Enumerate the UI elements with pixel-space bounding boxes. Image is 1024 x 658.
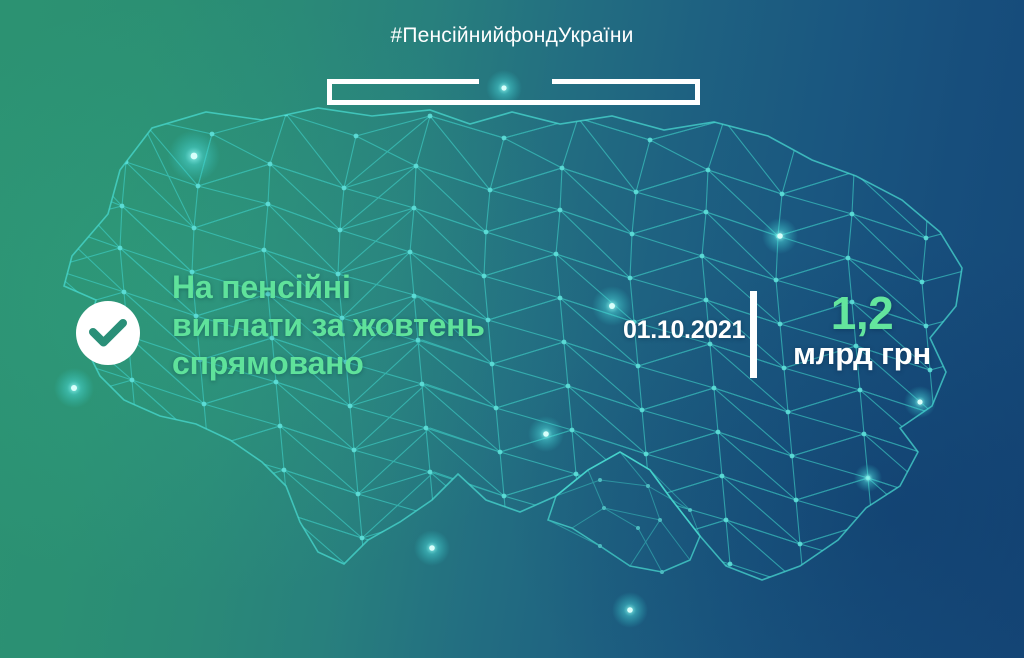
stat-amount: 1,2 млрд грн [777, 289, 947, 371]
report-date: 01.10.2021 [623, 316, 745, 345]
stat-value: 1,2 [777, 289, 947, 337]
hashtag-label: #ПенсійнийфондУкраїни [0, 24, 1024, 48]
decorative-frame [327, 79, 700, 105]
headline-line-1: На пенсійні [172, 268, 572, 306]
frame-edge-top-left [327, 79, 479, 84]
infographic-poster: #ПенсійнийфондУкраїни На пенсійні виплат… [0, 0, 1024, 658]
check-circle-icon [76, 301, 140, 365]
vertical-divider [750, 291, 757, 378]
frame-edge-bottom [327, 100, 700, 105]
headline-line-3: спрямовано [172, 344, 572, 382]
page-title: На пенсійні виплати за жовтень спрямован… [172, 268, 572, 382]
frame-edge-top-right [552, 79, 700, 84]
stat-unit: млрд грн [777, 337, 947, 371]
headline-line-2: виплати за жовтень [172, 306, 572, 344]
